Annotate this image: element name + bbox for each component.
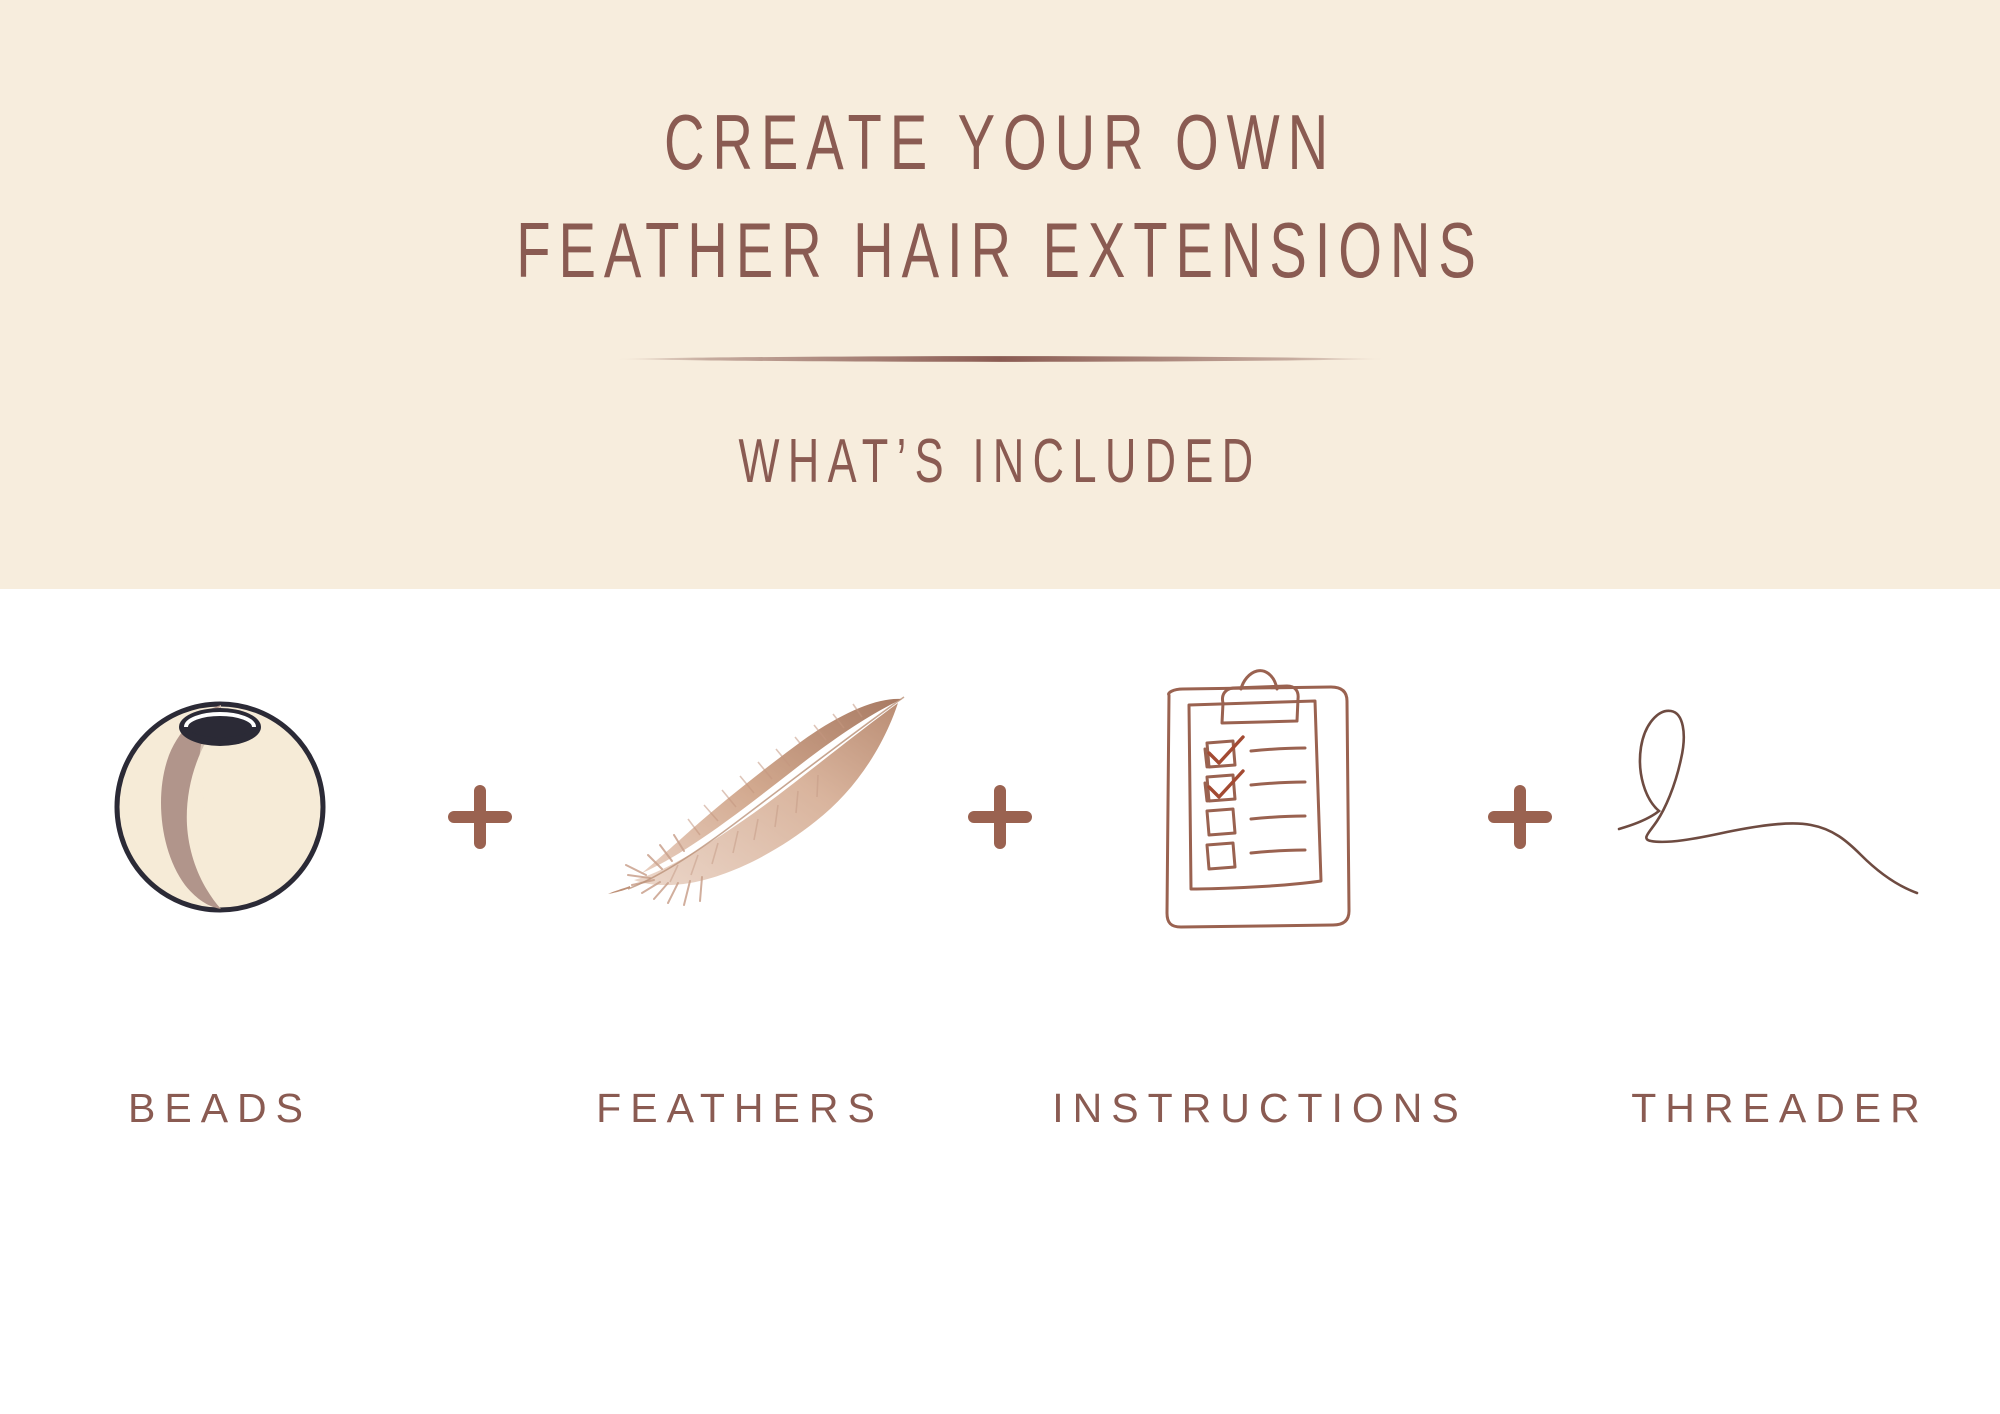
item-feathers: FEATHERS bbox=[540, 589, 940, 1132]
page-title-line-2: FEATHER HAIR EXTENSIONS bbox=[280, 196, 1720, 304]
plus-icon-bar-vertical bbox=[994, 785, 1006, 849]
item-label-beads: BEADS bbox=[128, 1085, 312, 1132]
clipboard-art bbox=[1060, 609, 1460, 999]
threader-art bbox=[1580, 609, 1980, 999]
separator-3 bbox=[1460, 589, 1580, 849]
feather-icon bbox=[550, 679, 930, 929]
item-label-instructions: INSTRUCTIONS bbox=[1052, 1085, 1468, 1132]
feather-art bbox=[540, 609, 940, 999]
item-label-threader: THREADER bbox=[1631, 1085, 1929, 1132]
page-title: CREATE YOUR OWN FEATHER HAIR EXTENSIONS bbox=[280, 88, 1720, 304]
included-items-row: BEADS bbox=[0, 589, 2000, 1414]
section-subtitle: WHAT’S INCLUDED bbox=[300, 424, 1700, 500]
bead-art bbox=[20, 609, 420, 999]
plus-icon bbox=[448, 785, 512, 849]
divider bbox=[615, 354, 1385, 364]
item-beads: BEADS bbox=[20, 589, 420, 1132]
threader-wire-icon bbox=[1615, 689, 1945, 919]
separator-2 bbox=[940, 589, 1060, 849]
plus-icon-bar-vertical bbox=[1514, 785, 1526, 849]
bead-icon bbox=[105, 689, 335, 919]
plus-icon-bar-vertical bbox=[474, 785, 486, 849]
clipboard-checklist-icon bbox=[1145, 659, 1375, 949]
item-threader: THREADER bbox=[1580, 589, 1980, 1132]
header-band: CREATE YOUR OWN FEATHER HAIR EXTENSIONS … bbox=[0, 0, 2000, 589]
item-label-feathers: FEATHERS bbox=[596, 1085, 884, 1132]
item-instructions: INSTRUCTIONS bbox=[1060, 589, 1460, 1132]
page-title-line-1: CREATE YOUR OWN bbox=[280, 88, 1720, 196]
poster-root: CREATE YOUR OWN FEATHER HAIR EXTENSIONS … bbox=[0, 0, 2000, 1414]
tapered-rule-icon bbox=[615, 354, 1385, 364]
plus-icon bbox=[1488, 785, 1552, 849]
plus-icon bbox=[968, 785, 1032, 849]
separator-1 bbox=[420, 589, 540, 849]
